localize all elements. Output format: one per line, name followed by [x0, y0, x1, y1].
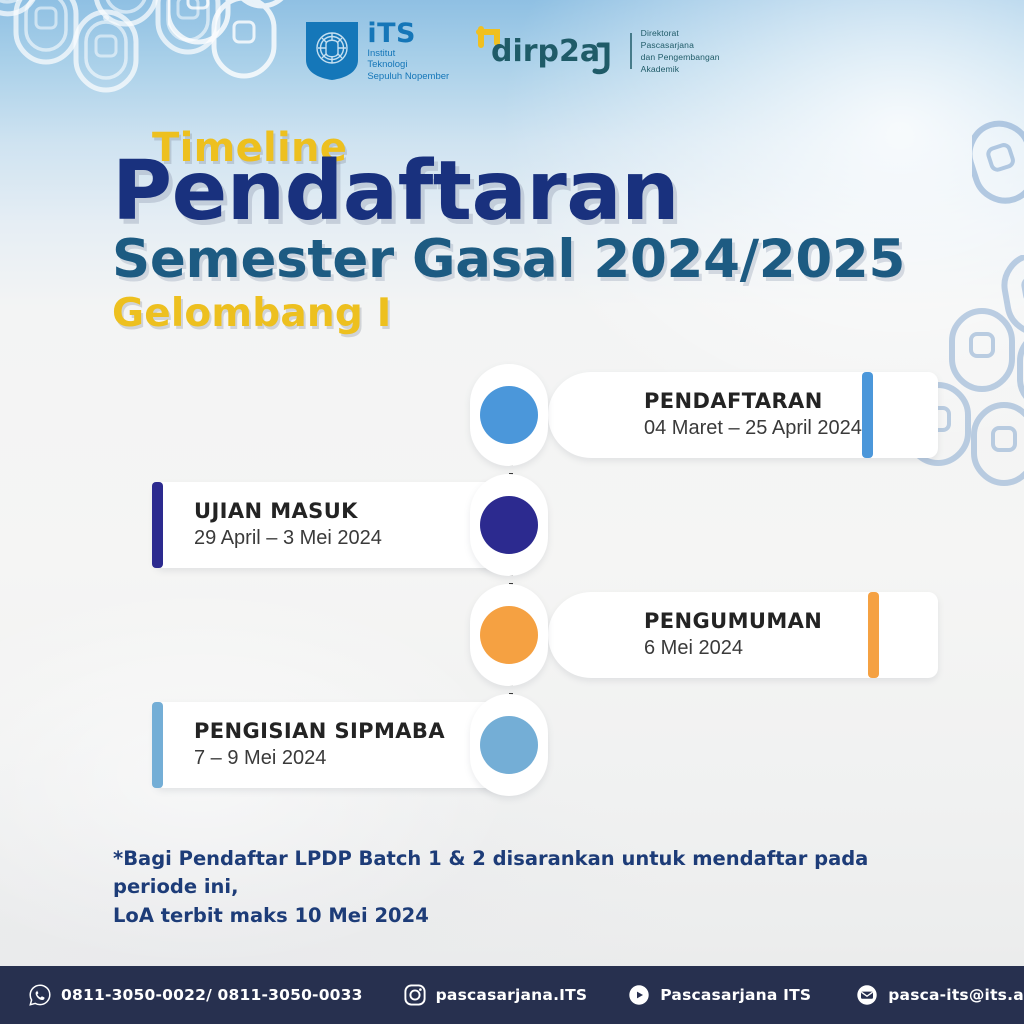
dirp-desc-1: Direktorat [641, 27, 720, 39]
contact-youtube[interactable]: Pascasarjana ITS [627, 983, 811, 1007]
contact-instagram-label: pascasarjana.ITS [436, 986, 588, 1004]
timeline-marker-dot [480, 606, 538, 664]
footnote-line-1: *Bagi Pendaftar LPDP Batch 1 & 2 disaran… [113, 845, 903, 902]
its-logo: iTS Institut Teknologi Sepuluh Nopember [304, 20, 449, 83]
timeline-accent-bar [152, 482, 163, 568]
its-shield-icon [304, 20, 360, 82]
contact-youtube-label: Pascasarjana ITS [660, 986, 811, 1004]
email-icon [855, 983, 879, 1007]
timeline-marker-dot [480, 716, 538, 774]
timeline-item-date: 04 Maret – 25 April 2024 [644, 415, 938, 441]
title-subtitle: Semester Gasal 2024/2025 [112, 233, 905, 286]
contact-email[interactable]: pasca-its@its.ac.id [855, 983, 1024, 1007]
svg-text:dirp2a: dirp2a [491, 34, 600, 69]
dirp-desc-3: dan Pengembangan [641, 51, 720, 63]
dirp-desc-4: Akademik [641, 63, 720, 75]
timeline-marker-halo [470, 474, 548, 576]
timeline-item-ujian-masuk[interactable]: UJIAN MASUK 29 April – 3 Mei 2024 [144, 482, 554, 568]
timeline-list: PENDAFTARAN 04 Maret – 25 April 2024 UJI… [0, 372, 1024, 792]
dirp-desc-2: Pascasarjana [641, 39, 720, 51]
its-wordmark: iTS Institut Teknologi Sepuluh Nopember [367, 20, 449, 83]
contact-whatsapp-label: 0811-3050-0022/ 0811-3050-0033 [61, 986, 363, 1004]
its-line-2: Teknologi [367, 59, 449, 71]
timeline-item-pengisian-sipmaba[interactable]: PENGISIAN SIPMABA 7 – 9 Mei 2024 [144, 702, 554, 788]
youtube-icon [627, 983, 651, 1007]
timeline-card[interactable]: PENDAFTARAN 04 Maret – 25 April 2024 [548, 372, 938, 458]
logo-bar: iTS Institut Teknologi Sepuluh Nopember … [0, 14, 1024, 88]
logo-divider [630, 33, 632, 69]
timeline-marker-halo [470, 584, 548, 686]
batik-ornament-right-upper [972, 120, 1024, 240]
timeline-marker-halo [470, 364, 548, 466]
timeline-item-pendaftaran[interactable]: PENDAFTARAN 04 Maret – 25 April 2024 [470, 372, 880, 458]
poster-canvas: iTS Institut Teknologi Sepuluh Nopember … [0, 0, 1024, 1024]
timeline-accent-bar [152, 702, 163, 788]
contact-email-label: pasca-its@its.ac.id [888, 986, 1024, 1004]
title-wave: Gelombang I [112, 294, 905, 333]
footnote: *Bagi Pendaftar LPDP Batch 1 & 2 disaran… [113, 845, 903, 930]
its-abbr: iTS [367, 20, 449, 47]
its-line-1: Institut [367, 48, 449, 60]
timeline-item-pengumuman[interactable]: PENGUMUMAN 6 Mei 2024 [470, 592, 880, 678]
dirp2a-logo: dirp2a Direktorat Pascasarjana dan Penge… [475, 25, 720, 77]
timeline-marker-dot [480, 386, 538, 444]
timeline-marker-dot [480, 496, 538, 554]
dirp2a-wordmark-icon: dirp2a [475, 25, 621, 77]
timeline-accent-bar [862, 372, 873, 458]
footnote-line-2: LoA terbit maks 10 Mei 2024 [113, 902, 903, 930]
timeline-marker-halo [470, 694, 548, 796]
whatsapp-icon [28, 983, 52, 1007]
contact-instagram[interactable]: pascasarjana.ITS [403, 983, 588, 1007]
timeline-item-label: PENDAFTARAN [644, 389, 938, 414]
title-block: Timeline Pendaftaran Semester Gasal 2024… [112, 128, 905, 333]
contact-whatsapp[interactable]: 0811-3050-0022/ 0811-3050-0033 [28, 983, 363, 1007]
footer-contact-bar: 0811-3050-0022/ 0811-3050-0033 pascasarj… [0, 966, 1024, 1024]
its-line-3: Sepuluh Nopember [367, 71, 449, 83]
timeline-card[interactable]: PENGUMUMAN 6 Mei 2024 [548, 592, 938, 678]
instagram-icon [403, 983, 427, 1007]
timeline-item-date: 6 Mei 2024 [644, 635, 938, 661]
page-title: Pendaftaran [112, 154, 905, 229]
timeline-accent-bar [868, 592, 879, 678]
timeline-item-label: PENGUMUMAN [644, 609, 938, 634]
